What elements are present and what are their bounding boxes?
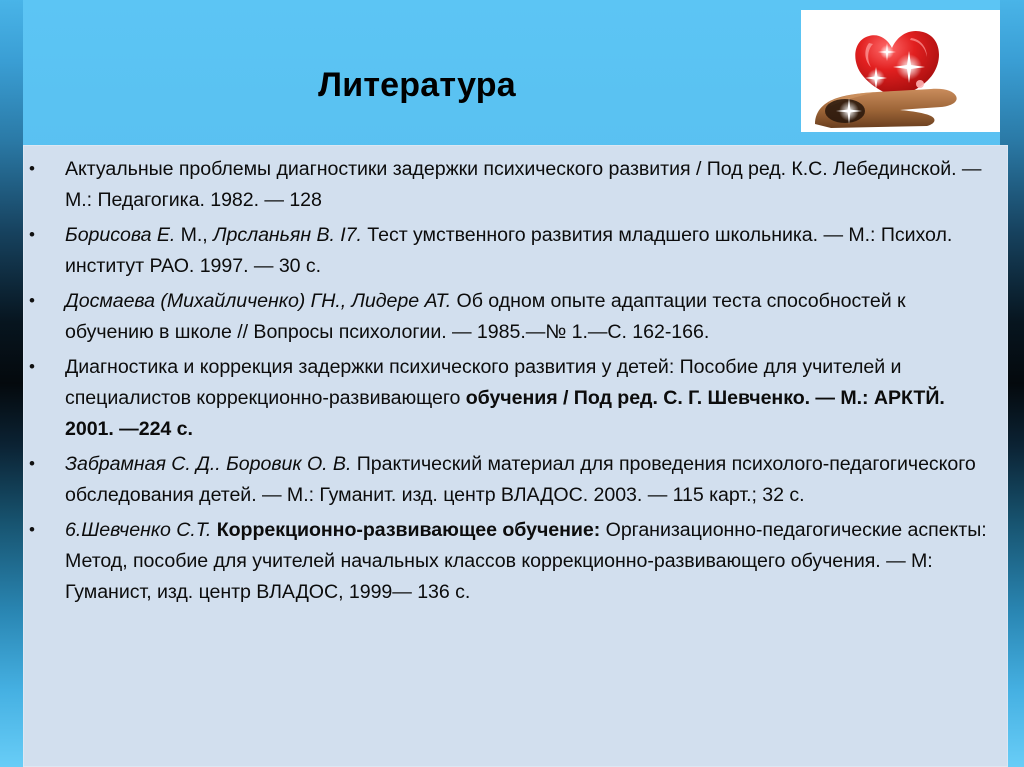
- list-item: Борисова Е. М., Лрсланьян В. I7. Тест ум…: [23, 220, 1008, 282]
- slide-canvas: Литература: [0, 0, 1024, 767]
- reference-text-segment: Борисова Е.: [65, 224, 175, 246]
- reference-text-segment: Лрсланьян В. I7.: [213, 224, 362, 246]
- list-item: Досмаева (Михайличенко) ГН., Лидере АТ. …: [23, 286, 1008, 348]
- references-panel: Актуальные проблемы диагностики задержки…: [23, 145, 1008, 767]
- reference-text-segment: Актуальные проблемы диагностики задержки…: [65, 158, 981, 211]
- reference-text-segment: Коррекционно-развивающее обучение:: [211, 519, 600, 541]
- list-item: Диагностика и коррекция задержки психиче…: [23, 352, 1008, 445]
- reference-text-segment: 6.Шевченко С.Т.: [65, 519, 211, 541]
- list-item: 6.Шевченко С.Т. Коррекционно-развивающее…: [23, 515, 1008, 608]
- left-accent-band: [0, 0, 23, 767]
- reference-text-segment: М.,: [175, 224, 213, 246]
- list-item: Забрамная С. Д.. Боровик О. В. Практичес…: [23, 449, 1008, 511]
- list-item: Актуальные проблемы диагностики задержки…: [23, 154, 1008, 216]
- hand-holding-heart-photo: [801, 10, 1000, 132]
- reference-text-segment: Досмаева (Михайличенко) ГН., Лидере АТ.: [65, 290, 451, 312]
- reference-text-segment: Забрамная С. Д.. Боровик О. В.: [65, 453, 351, 475]
- references-list: Актуальные проблемы диагностики задержки…: [23, 145, 1008, 608]
